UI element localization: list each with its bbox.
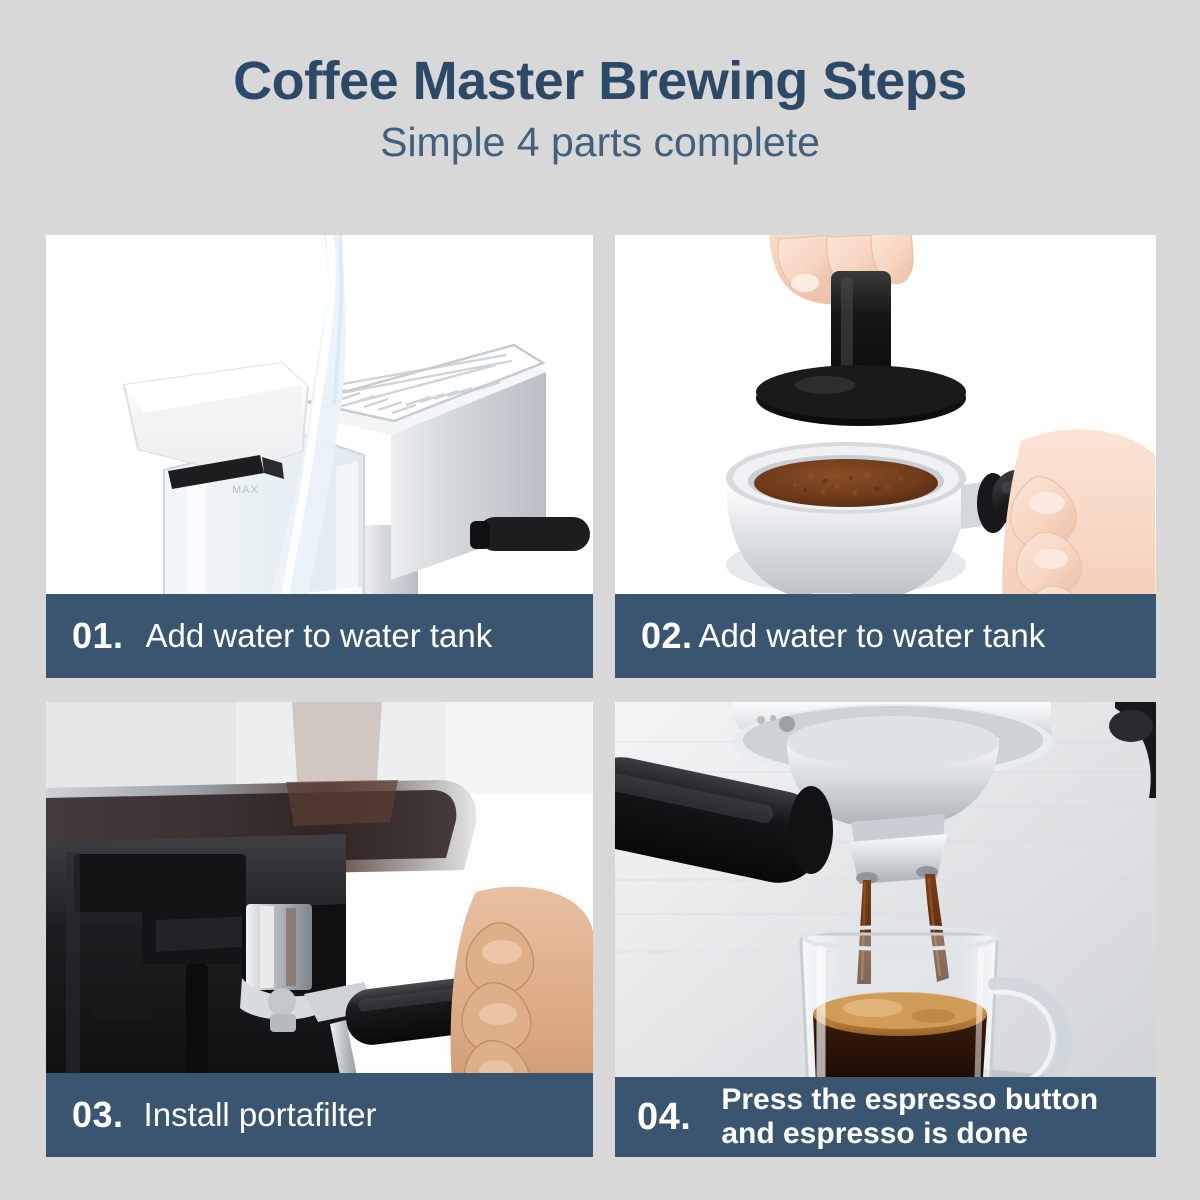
step-number-02: 02. bbox=[641, 618, 693, 654]
step-number-01: 01. bbox=[72, 618, 124, 654]
svg-text:MAX: MAX bbox=[232, 484, 259, 496]
step-text-03: Install portafilter bbox=[144, 1098, 377, 1133]
step-text-04-line-2: and espresso is done bbox=[721, 1117, 1098, 1151]
step-caption-02: 02. Add water to water tank bbox=[615, 594, 1156, 678]
step-card-02[interactable]: 02. Add water to water tank bbox=[615, 235, 1156, 678]
step-caption-03: 03. Install portafilter bbox=[46, 1073, 593, 1157]
step-card-04[interactable]: 04. Press the espresso button and espres… bbox=[615, 702, 1156, 1157]
step-caption-04: 04. Press the espresso button and espres… bbox=[615, 1077, 1156, 1157]
page-title: Coffee Master Brewing Steps bbox=[0, 52, 1200, 110]
step-number-03: 03. bbox=[72, 1097, 124, 1133]
step-caption-01: 01. Add water to water tank bbox=[46, 594, 593, 678]
step-text-01: Add water to water tank bbox=[146, 619, 493, 654]
step-text-04: Press the espresso button and espresso i… bbox=[721, 1083, 1098, 1150]
steps-grid: MAX bbox=[46, 235, 1156, 1157]
infographic-page: Coffee Master Brewing Steps Simple 4 par… bbox=[0, 0, 1200, 1200]
step-number-04: 04. bbox=[637, 1098, 691, 1136]
step-text-04-line-1: Press the espresso button bbox=[721, 1083, 1098, 1117]
step-card-01[interactable]: MAX bbox=[46, 235, 593, 678]
step-text-02: Add water to water tank bbox=[699, 619, 1046, 654]
step-card-03[interactable]: 03. Install portafilter bbox=[46, 702, 593, 1157]
page-subtitle: Simple 4 parts complete bbox=[0, 120, 1200, 165]
header: Coffee Master Brewing Steps Simple 4 par… bbox=[0, 0, 1200, 165]
